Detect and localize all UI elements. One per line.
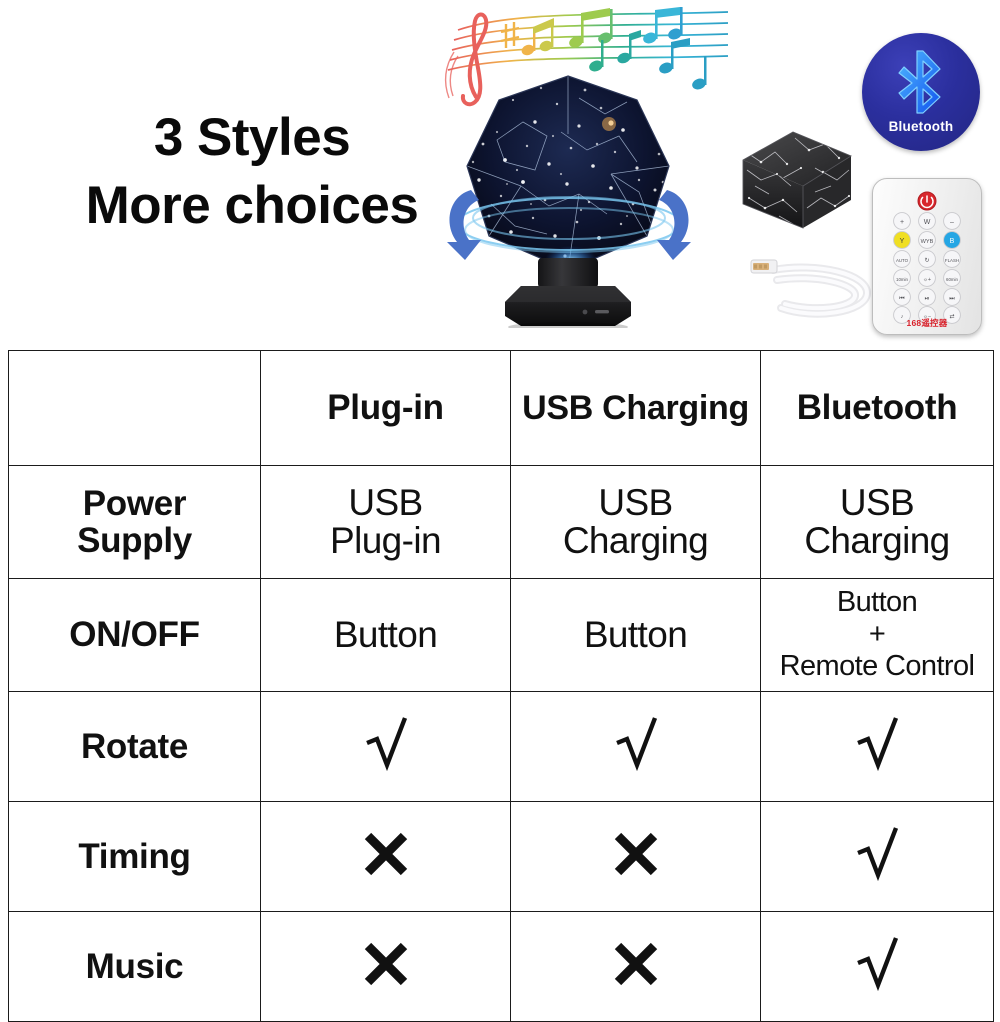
check-icon xyxy=(855,715,899,773)
lamp-base xyxy=(503,258,633,328)
cell-power-supply-usb-charging: USB Charging xyxy=(511,466,761,579)
cell-on-off-plug-in: Button xyxy=(261,579,511,692)
row-label-music: Music xyxy=(9,912,261,1022)
svg-text:⏯: ⏯ xyxy=(925,296,930,302)
row-label-rotate: Rotate xyxy=(9,692,261,802)
cell-line-1: USB xyxy=(264,484,507,522)
cell-line-3: Remote Control xyxy=(764,651,990,683)
comparison-table: Plug-in USB Charging Bluetooth Power Sup… xyxy=(8,350,994,1022)
cell-line-2: + xyxy=(764,619,990,651)
bluetooth-badge-label: Bluetooth xyxy=(862,119,980,134)
cell-rotate-usb-charging xyxy=(511,692,761,802)
header-cell-plug-in: Plug-in xyxy=(261,351,511,466)
cross-icon xyxy=(362,940,410,988)
cell-on-off-bluetooth: Button + Remote Control xyxy=(761,579,994,692)
cell-rotate-bluetooth xyxy=(761,692,994,802)
check-icon xyxy=(614,715,658,773)
remote-control-image: +W– YWYBB AUTO↻FLASH 10min☼+60min ⏮⏯⏭ ♪☼… xyxy=(872,178,982,335)
svg-text:⏮: ⏮ xyxy=(899,296,905,302)
row-label-timing: Timing xyxy=(9,802,261,912)
cell-music-usb-charging xyxy=(511,912,761,1022)
table-row-power-supply: Power Supply USB Plug-in USB Charging US… xyxy=(9,466,994,579)
row-label-line-1: Power xyxy=(12,485,257,522)
svg-text:FLASH: FLASH xyxy=(945,258,959,263)
headline-line-2: More choices xyxy=(52,172,452,240)
header-label: Bluetooth xyxy=(797,388,958,427)
row-label-line-1: Music xyxy=(86,947,184,986)
svg-text:WYB: WYB xyxy=(921,239,934,245)
cell-line-2: Plug-in xyxy=(264,522,507,560)
table-row-rotate: Rotate xyxy=(9,692,994,802)
svg-text:AUTO: AUTO xyxy=(896,258,909,263)
header-label-line-1: USB xyxy=(522,389,593,427)
header-cell-bluetooth: Bluetooth xyxy=(761,351,994,466)
cell-line-1: Button xyxy=(584,614,687,655)
headline-line-1: 3 Styles xyxy=(52,104,452,172)
table-row-music: Music xyxy=(9,912,994,1022)
hero-banner: 3 Styles More choices xyxy=(0,0,1000,350)
cell-line-1: Button xyxy=(334,614,437,655)
usb-cable-image xyxy=(743,248,883,328)
table-row-timing: Timing xyxy=(9,802,994,912)
cell-line-1: Button xyxy=(764,587,990,619)
check-icon xyxy=(855,935,899,993)
cell-on-off-usb-charging: Button xyxy=(511,579,761,692)
header-cell-usb-charging: USB Charging xyxy=(511,351,761,466)
cell-power-supply-bluetooth: USB Charging xyxy=(761,466,994,579)
svg-text:Y: Y xyxy=(900,238,905,245)
cell-power-supply-plug-in: USB Plug-in xyxy=(261,466,511,579)
svg-text:–: – xyxy=(950,219,954,226)
cell-music-bluetooth xyxy=(761,912,994,1022)
header-label: Plug-in xyxy=(327,388,444,427)
row-label-power-supply: Power Supply xyxy=(9,466,261,579)
svg-text:↻: ↻ xyxy=(924,257,929,264)
header-label-line-2: Charging xyxy=(602,389,749,427)
svg-text:⏭: ⏭ xyxy=(949,296,955,302)
check-icon xyxy=(855,825,899,883)
cell-line-1: USB xyxy=(764,484,990,522)
row-label-line-1: ON/OFF xyxy=(69,615,199,654)
row-label-line-1: Rotate xyxy=(81,727,188,766)
remote-keys: +W– YWYBB AUTO↻FLASH 10min☼+60min ⏮⏯⏭ ♪☼… xyxy=(873,179,981,334)
cell-timing-bluetooth xyxy=(761,802,994,912)
header-cell-blank xyxy=(9,351,261,466)
cross-icon xyxy=(612,940,660,988)
svg-text:10min: 10min xyxy=(896,277,909,282)
row-label-line-1: Timing xyxy=(78,837,190,876)
table-header-row: Plug-in USB Charging Bluetooth xyxy=(9,351,994,466)
svg-text:☼+: ☼+ xyxy=(923,277,931,283)
cell-music-plug-in xyxy=(261,912,511,1022)
svg-text:B: B xyxy=(950,238,955,245)
cell-line-1: USB xyxy=(514,484,757,522)
cell-rotate-plug-in xyxy=(261,692,511,802)
svg-text:W: W xyxy=(924,219,931,226)
cell-line-2: Charging xyxy=(514,522,757,560)
cell-timing-plug-in xyxy=(261,802,511,912)
cell-line-2: Charging xyxy=(764,522,990,560)
remote-model-label: 168遥控器 xyxy=(873,317,981,329)
cross-icon xyxy=(362,830,410,878)
svg-text:60min: 60min xyxy=(946,277,959,282)
row-label-line-2: Supply xyxy=(12,522,257,559)
gift-box-image xyxy=(735,124,857,236)
page-title: 3 Styles More choices xyxy=(52,104,452,240)
bluetooth-badge: Bluetooth xyxy=(862,33,980,151)
projector-dome xyxy=(461,74,675,274)
cross-icon xyxy=(612,830,660,878)
bluetooth-icon xyxy=(890,49,952,115)
star-projector-lamp xyxy=(443,68,693,358)
svg-text:+: + xyxy=(900,219,904,226)
check-icon xyxy=(364,715,408,773)
row-label-on-off: ON/OFF xyxy=(9,579,261,692)
table-row-on-off: ON/OFF Button Button Button + Remote Con… xyxy=(9,579,994,692)
cell-timing-usb-charging xyxy=(511,802,761,912)
